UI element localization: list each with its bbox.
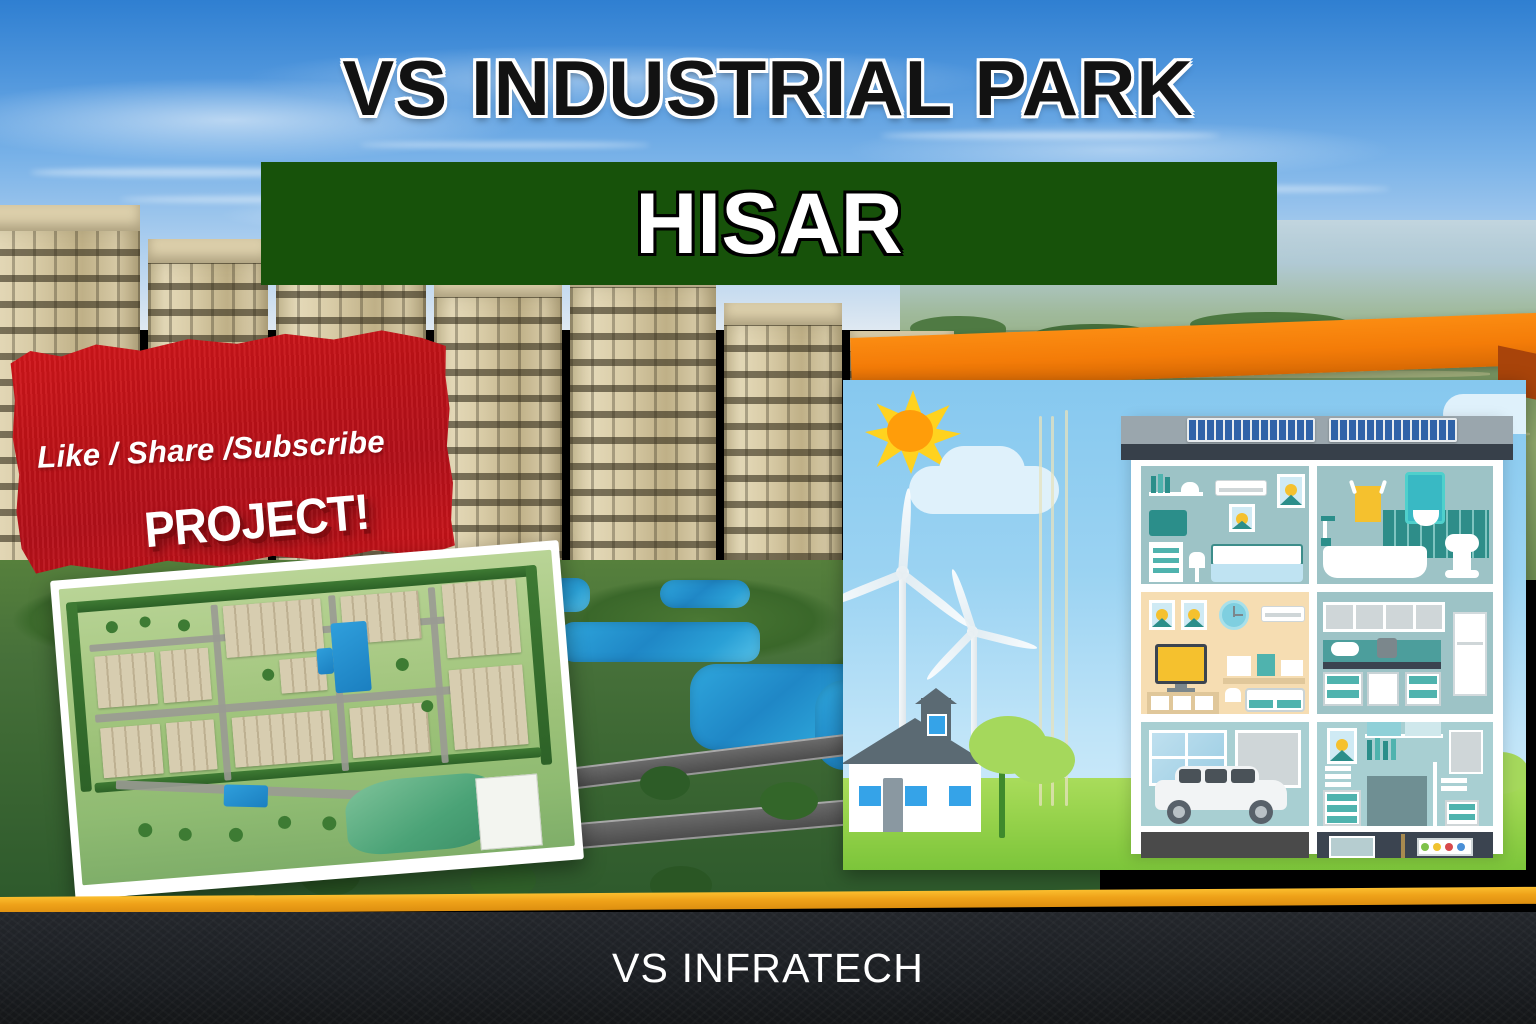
living-room (1141, 592, 1309, 714)
site-plan-frame (50, 540, 584, 900)
bedroom (1141, 466, 1309, 584)
bathroom (1317, 466, 1493, 584)
car-wheel (1249, 800, 1273, 824)
wall-picture (1277, 474, 1305, 508)
site-plan-image (59, 550, 575, 886)
house-dormer-roof (915, 688, 957, 704)
house-door (883, 778, 903, 832)
city-name-label: HISAR (261, 176, 1277, 272)
house-roof (843, 718, 989, 764)
footer-bar: VS INFRATECH (0, 912, 1536, 1024)
wind-turbine-blade (972, 628, 1038, 652)
bathtub (1323, 546, 1427, 578)
car-wheel (1167, 800, 1191, 824)
wall-picture (1327, 728, 1357, 764)
brand-name: VS INFRATECH (612, 945, 924, 992)
cutaway-building (1131, 416, 1503, 854)
city-banner: HISAR (261, 162, 1277, 285)
house-window (857, 784, 883, 808)
basement-left (1141, 832, 1309, 858)
sun-core-icon (887, 410, 933, 452)
house-window (927, 714, 947, 736)
eco-building-illustration[interactable] (843, 380, 1526, 870)
house-window (947, 784, 973, 808)
cloud-icon (939, 446, 1025, 496)
site-plan-photo[interactable] (50, 540, 584, 900)
cta-badge[interactable]: Like / Share /Subscribe PROJECT! (8, 325, 458, 585)
wind-turbine-blade (898, 488, 913, 574)
basement-right (1317, 832, 1493, 858)
garage (1141, 722, 1309, 826)
house-window (903, 784, 929, 808)
kitchen (1317, 592, 1493, 714)
wall-picture (1181, 600, 1207, 630)
poster-root: VS INDUSTRIAL PARK HISAR Like / Share /S… (0, 0, 1536, 1024)
wall-picture (1149, 600, 1175, 630)
wind-turbine-blade (843, 570, 904, 611)
roof-band (1121, 444, 1513, 460)
refrigerator (1453, 612, 1487, 696)
utility-room (1317, 722, 1493, 826)
solar-panel-icon (1329, 418, 1457, 442)
tree-crown (1009, 736, 1075, 784)
solar-panel-icon (1187, 418, 1315, 442)
wind-turbine-blade (924, 629, 976, 682)
towel (1355, 486, 1381, 522)
page-title: VS INDUSTRIAL PARK (0, 46, 1536, 130)
wall-picture (1229, 504, 1255, 532)
tree-trunk (999, 766, 1005, 838)
